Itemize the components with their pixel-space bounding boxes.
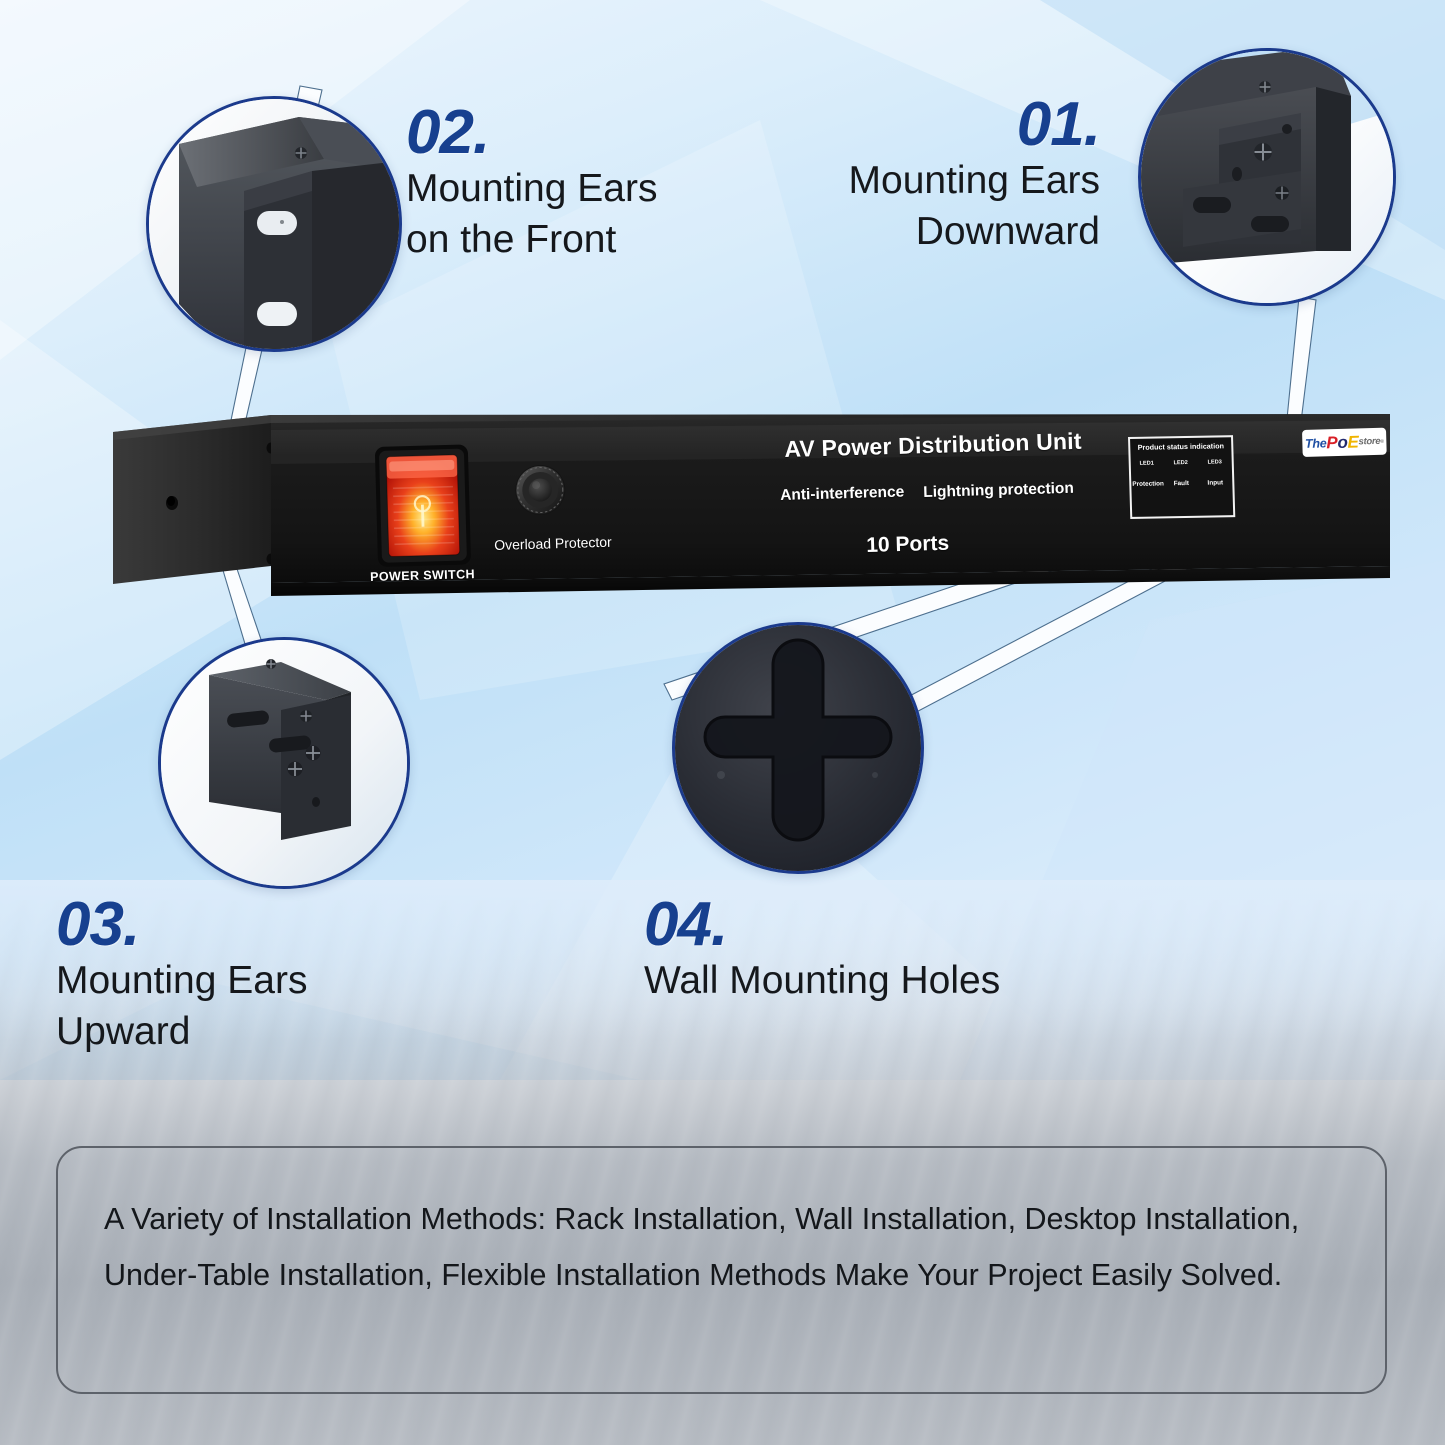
device-feature-left: Anti-interference [780, 484, 904, 505]
led2-name: Fault [1166, 480, 1196, 488]
callout-03-line-2: Upward [56, 1006, 307, 1057]
brand-trademark: ® [1380, 438, 1384, 444]
led3-name: Input [1200, 479, 1230, 487]
led1-name: Protection [1132, 480, 1162, 488]
callout-04-number: 04. [644, 896, 1000, 955]
callout-02: 02. Mounting Ears on the Front [406, 104, 657, 266]
led-column-fault: LED2 Fault [1166, 460, 1197, 488]
callout-03-number: 03. [56, 896, 307, 955]
led2-code: LED2 [1166, 460, 1196, 467]
brand-p: P [1326, 433, 1338, 453]
brand-e: E [1347, 432, 1359, 452]
led3-code: LED3 [1200, 459, 1230, 466]
callout-01: 01. Mounting Ears Downward [680, 96, 1100, 258]
callout-01-number: 01. [680, 96, 1100, 155]
status-indication-panel: Product status indication LED1 Protectio… [1128, 435, 1235, 519]
callout-01-line-2: Downward [680, 206, 1100, 257]
mounting-ears-upward-photo [158, 637, 410, 889]
callout-03: 03. Mounting Ears Upward [56, 896, 307, 1058]
wall-mounting-hole-photo [672, 622, 924, 874]
brand-logo: ThePoEstore® [1302, 428, 1387, 457]
brand-o: o [1337, 432, 1348, 452]
power-switch-label: POWER SWITCH [370, 567, 475, 584]
led-column-input: LED3 Input [1200, 459, 1231, 487]
infographic-stage: AV Power Distribution Unit Anti-interfer… [0, 0, 1445, 1445]
led-column-protection: LED1 Protection [1132, 460, 1163, 488]
installation-methods-caption-box: A Variety of Installation Methods: Rack … [56, 1146, 1387, 1394]
callout-02-line-1: Mounting Ears [406, 163, 657, 214]
callout-01-line-1: Mounting Ears [680, 155, 1100, 206]
callout-04-line-1: Wall Mounting Holes [644, 955, 1000, 1006]
device-port-count: 10 Ports [866, 532, 950, 558]
caption-text: A Variety of Installation Methods: Rack … [104, 1192, 1341, 1303]
mounting-ears-front-photo [146, 96, 402, 352]
led1-code: LED1 [1132, 460, 1162, 467]
callout-02-line-2: on the Front [406, 214, 657, 265]
brand-the: The [1305, 436, 1327, 451]
overload-protector-label: Overload Protector [494, 534, 612, 553]
callout-03-line-1: Mounting Ears [56, 955, 307, 1006]
callout-04: 04. Wall Mounting Holes [644, 896, 1000, 1006]
status-panel-title: Product status indication [1138, 441, 1225, 452]
brand-store: store [1358, 436, 1380, 448]
mounting-ears-downward-photo [1138, 48, 1396, 306]
callout-02-number: 02. [406, 104, 657, 163]
